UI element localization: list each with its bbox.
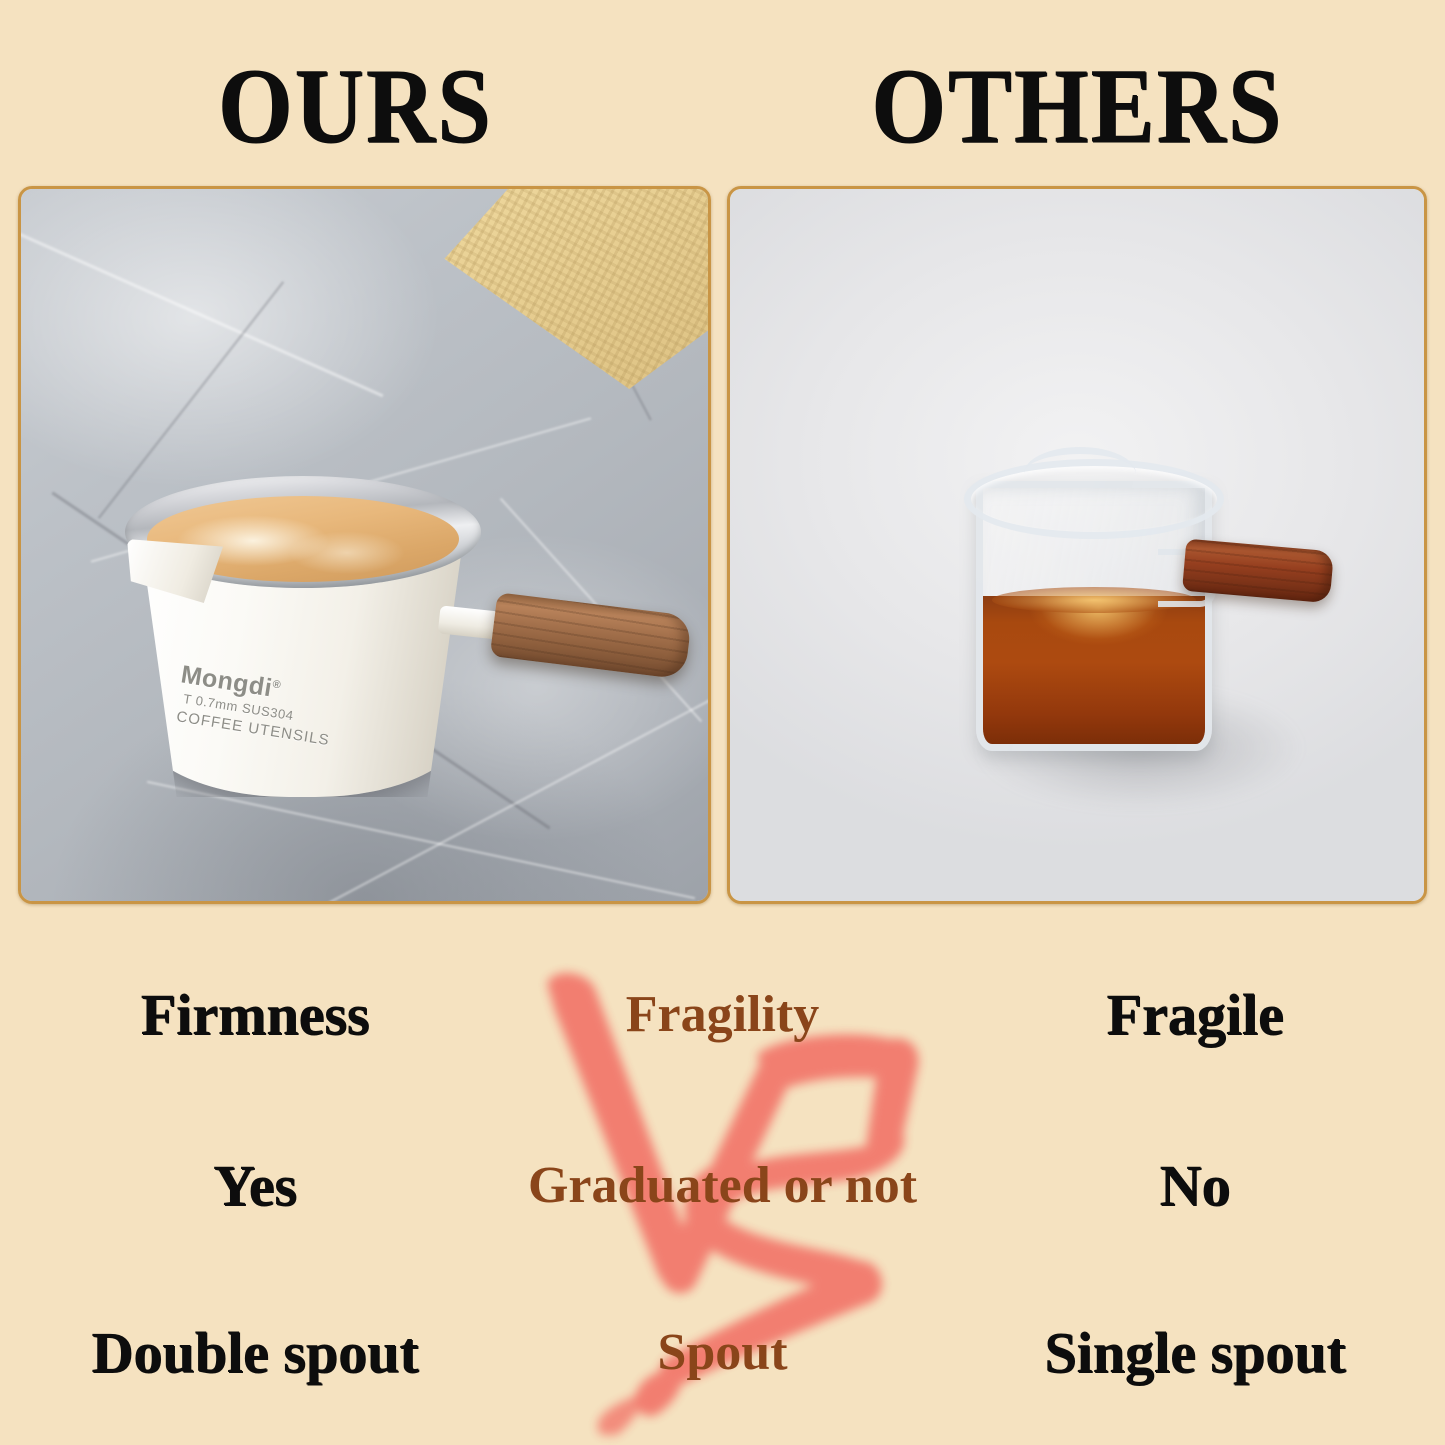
row-attribute-label: Spout <box>470 1310 975 1396</box>
row-value-ours: Yes <box>40 1143 470 1229</box>
steel-pitcher: Mongdi® T 0.7mm SUS304 COFFEE UTENSILS <box>117 434 537 814</box>
row-value-others: Single spout <box>975 1310 1415 1396</box>
infographic-stage: OURS OTHERS Mongdi® T <box>0 0 1445 1445</box>
row-attribute-label: Fragility <box>470 972 975 1058</box>
row-value-ours: Firmness <box>40 972 470 1058</box>
comparison-row: Double spout Spout Single spout <box>0 1310 1445 1396</box>
comparison-row: Firmness Fragility Fragile <box>0 972 1445 1058</box>
header-others: OTHERS <box>727 52 1427 160</box>
glass-pitcher <box>942 437 1272 767</box>
photo-ours-canvas: Mongdi® T 0.7mm SUS304 COFFEE UTENSILS <box>21 189 708 901</box>
row-value-others: No <box>975 1143 1415 1229</box>
product-photo-others <box>727 186 1427 904</box>
glass-spout <box>1024 447 1136 500</box>
photo-others-canvas <box>730 189 1424 901</box>
row-value-others: Fragile <box>975 972 1415 1058</box>
comparison-row: Yes Graduated or not No <box>0 1143 1445 1229</box>
espresso-liquid <box>983 596 1205 744</box>
product-photo-ours: Mongdi® T 0.7mm SUS304 COFFEE UTENSILS <box>18 186 711 904</box>
header-ours: OURS <box>0 52 710 160</box>
row-value-ours: Double spout <box>40 1310 470 1396</box>
trademark-symbol: ® <box>272 678 282 691</box>
row-attribute-label: Graduated or not <box>470 1143 975 1229</box>
